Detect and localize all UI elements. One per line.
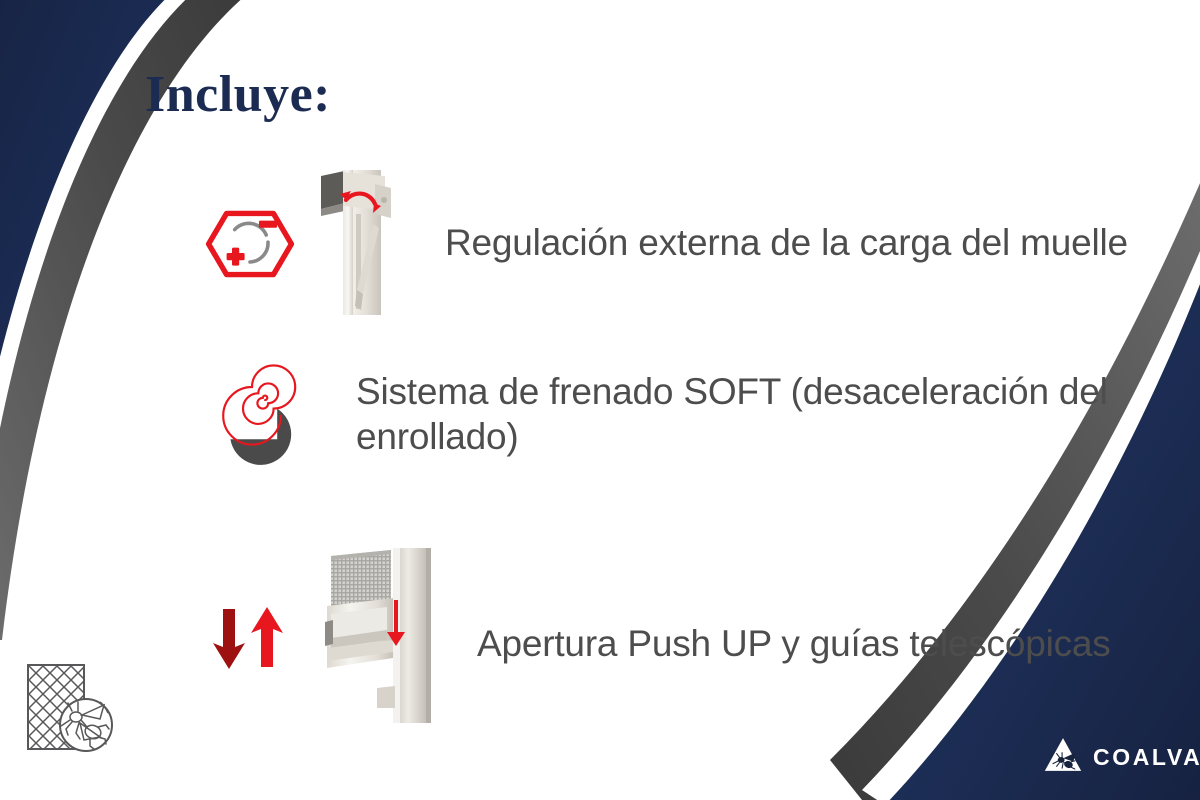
coalval-logo: COALVAL (1043, 736, 1200, 778)
slide-canvas: Incluye: (0, 0, 1200, 800)
coalval-triangle-mosquito-mark (1043, 736, 1083, 778)
push-up-telescopic-guides-photo (317, 548, 447, 728)
up-down-arrows-icon (205, 603, 297, 673)
feature-row-2: Sistema de frenado SOFT (desaceleración … (198, 360, 1200, 468)
mosquito-mesh-screen-icon (8, 645, 148, 790)
slide-title: Incluye: (145, 68, 331, 123)
spiral-brake-icon (198, 360, 306, 468)
feature-row-3: Apertura Push UP y guías telescópicas (205, 548, 1111, 728)
feature-1-text: Regulación externa de la carga del muell… (445, 220, 1128, 265)
spring-tension-adjuster-photo (313, 166, 413, 321)
hexagon-plus-minus-adjust-icon (205, 199, 295, 289)
coalval-wordmark: COALVAL (1093, 744, 1200, 771)
feature-2-text: Sistema de frenado SOFT (desaceleración … (356, 369, 1200, 459)
feature-3-text: Apertura Push UP y guías telescópicas (477, 621, 1111, 666)
feature-row-1: Regulación externa de la carga del muell… (205, 166, 1128, 321)
